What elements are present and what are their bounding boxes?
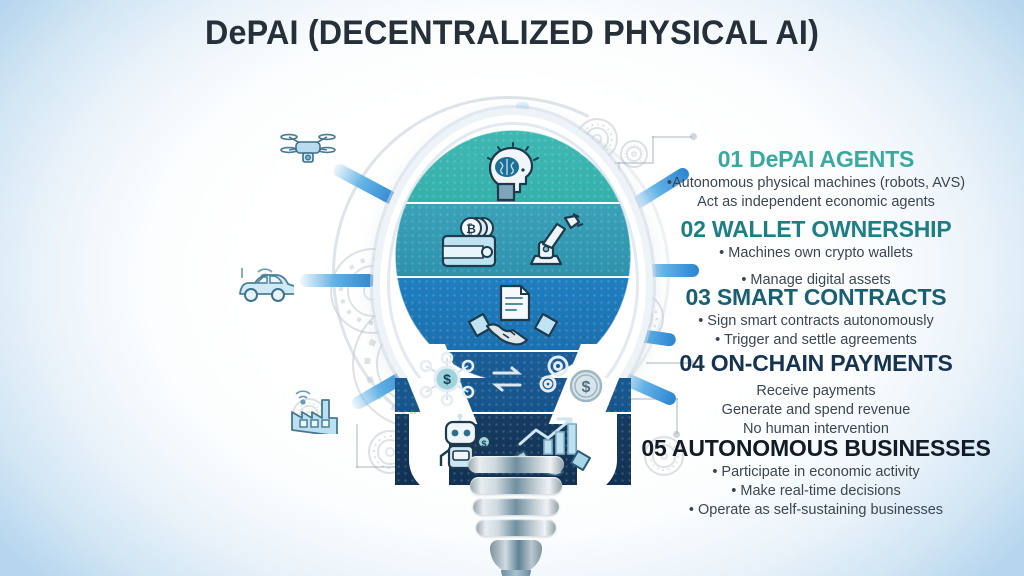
page-title: DePAI (DECENTRALIZED PHYSICAL AI) <box>26 14 999 53</box>
contract-handshake-icon <box>395 284 631 348</box>
svg-text:$: $ <box>582 379 591 396</box>
list-item: Receive payments <box>616 382 1016 401</box>
list-item: Generate and spend revenue <box>616 401 1016 420</box>
base-contact <box>501 570 531 576</box>
step-1-bullets: •Autonomous physical machines (robots, A… <box>616 174 1016 212</box>
list-item: • Machines own crypto wallets <box>616 244 1016 263</box>
infographic-canvas: DePAI (DECENTRALIZED PHYSICAL AI) <box>0 0 1024 576</box>
svg-text:₿: ₿ <box>466 222 476 236</box>
list-item: • Operate as self-sustaining businesses <box>616 501 1016 520</box>
step-5-bullets: • Participate in economic activity • Mak… <box>616 463 1016 520</box>
step-3-bullets: • Sign smart contracts autonomously • Tr… <box>616 312 1016 350</box>
step-3-heading: 03 SMART CONTRACTS <box>616 285 1016 309</box>
base-ring <box>473 498 559 515</box>
base-ring <box>468 456 564 473</box>
step-block-5: 05 AUTONOMOUS BUSINESSES • Participate i… <box>616 436 1016 521</box>
list-item: Act as independent economic agents <box>616 193 1016 212</box>
list-item: •Autonomous physical machines (robots, A… <box>616 174 1016 193</box>
list-item: • Participate in economic activity <box>616 463 1016 482</box>
coin-network-gears-icon: $ $ <box>395 350 631 408</box>
svg-text:$: $ <box>481 439 486 449</box>
drone-icon <box>280 128 336 177</box>
step-block-4: 04 ON-CHAIN PAYMENTS Receive payments Ge… <box>616 351 1016 440</box>
base-ring <box>476 519 556 536</box>
step-4-heading: 04 ON-CHAIN PAYMENTS <box>616 351 1016 375</box>
brain-head-icon <box>395 142 631 204</box>
step-1-heading: 01 DePAI AGENTS <box>616 147 1016 171</box>
base-ring <box>470 477 562 494</box>
step-block-3: 03 SMART CONTRACTS • Sign smart contract… <box>616 285 1016 350</box>
connected-car-icon <box>232 258 294 311</box>
step-4-bullets: Receive payments Generate and spend reve… <box>616 382 1016 439</box>
step-2-heading: 02 WALLET OWNERSHIP <box>616 217 1016 241</box>
step-block-2: 02 WALLET OWNERSHIP • Machines own crypt… <box>616 217 1016 290</box>
connector-car <box>300 274 376 287</box>
step-5-heading: 05 AUTONOMOUS BUSINESSES <box>616 436 1016 460</box>
bulb-screw-base <box>468 456 564 576</box>
smart-factory-icon <box>286 378 346 439</box>
list-item: • Sign smart contracts autonomously <box>616 312 1016 331</box>
svg-text:$: $ <box>443 371 451 387</box>
crypto-wallet-robot-arm-icon: ₿ <box>395 212 631 270</box>
list-item: • Make real-time decisions <box>616 482 1016 501</box>
list-item: • Trigger and settle agreements <box>616 331 1016 350</box>
base-tip <box>490 540 542 574</box>
step-block-1: 01 DePAI AGENTS •Autonomous physical mac… <box>616 147 1016 212</box>
